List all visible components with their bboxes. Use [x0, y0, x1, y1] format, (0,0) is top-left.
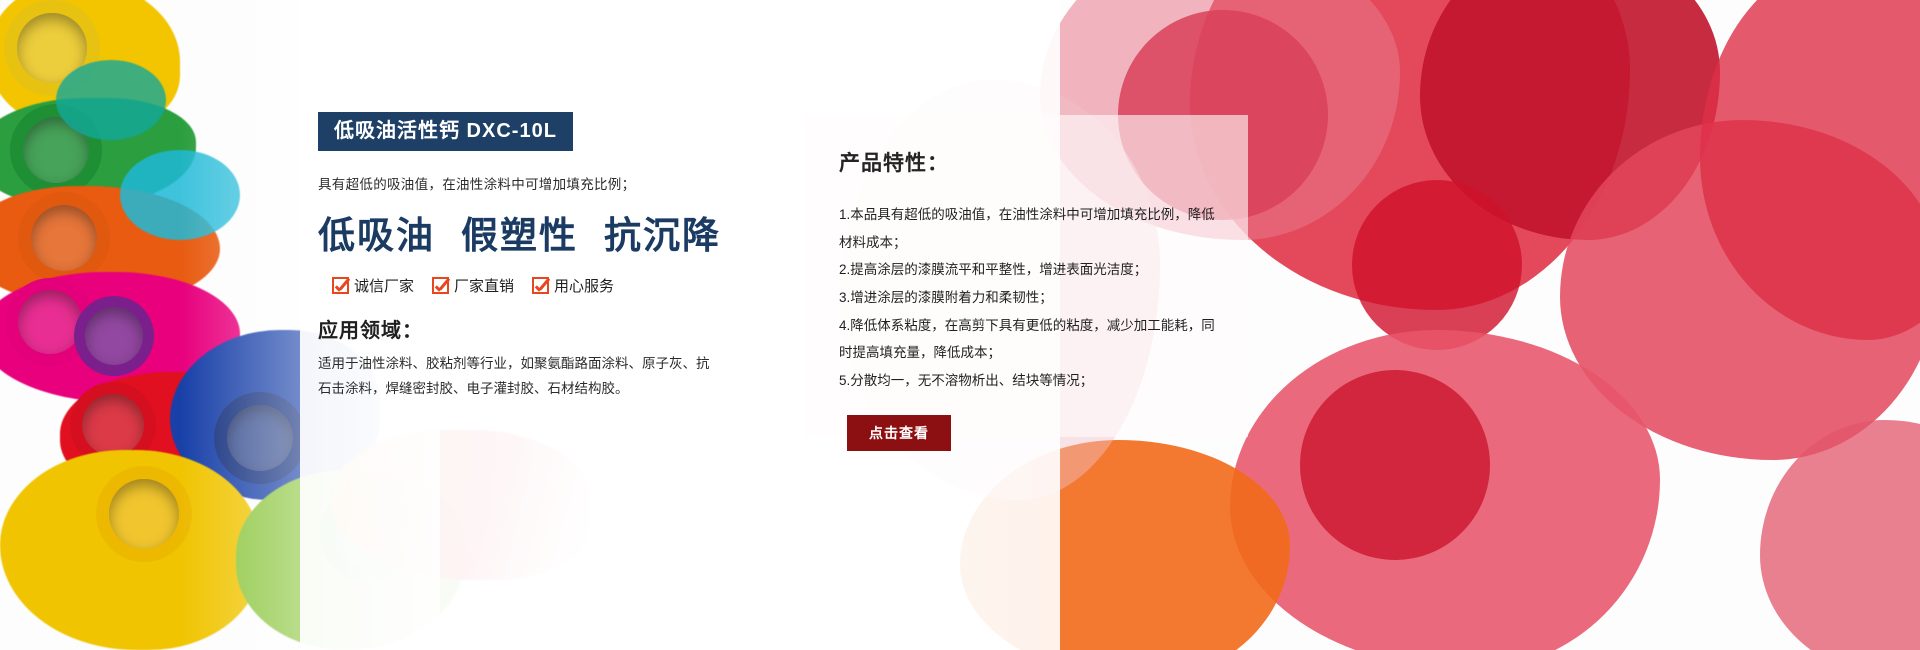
feature-label-2: 厂家直销: [454, 275, 514, 296]
red-splash-bowl-3: [1300, 370, 1490, 560]
left-content-column: 低吸油活性钙 DXC-10L 具有超低的吸油值，在油性涂料中可增加填充比例； 低…: [318, 112, 738, 402]
feature-check-row: 诚信厂家 厂家直销 用心服务: [318, 275, 738, 296]
product-features-panel: 产品特性： 1.本品具有超低的吸油值，在油性涂料中可增加填充比例，降低材料成本；…: [805, 115, 1248, 437]
panel-feature-item-2: 2.提高涂层的漆膜流平和平整性，增进表面光洁度；: [839, 256, 1217, 284]
headline-word-1: 低吸油: [318, 216, 435, 257]
paint-smear-teal: [56, 60, 166, 140]
paint-can-yellow-2: [96, 466, 192, 562]
feature-label-3: 用心服务: [554, 275, 614, 296]
application-body: 适用于油性涂料、胶粘剂等行业，如聚氨酯路面涂料、原子灰、抗石击涂料，焊缝密封胶、…: [318, 352, 718, 402]
headline-word-2: 假塑性: [461, 216, 578, 257]
feature-item-2: 厂家直销: [432, 275, 514, 296]
feature-item-3: 用心服务: [532, 275, 614, 296]
product-subtitle: 具有超低的吸油值，在油性涂料中可增加填充比例；: [318, 173, 738, 193]
panel-feature-item-4: 4.降低体系粘度，在高剪下具有更低的粘度，减少加工能耗，同时提高填充量，降低成本…: [839, 312, 1217, 367]
headline-word-3: 抗沉降: [604, 216, 721, 257]
application-heading: 应用领域：: [318, 314, 738, 343]
feature-item-1: 诚信厂家: [332, 275, 414, 296]
feature-label-1: 诚信厂家: [354, 275, 414, 296]
paint-can-purple: [74, 296, 154, 376]
check-icon: [332, 277, 349, 294]
check-icon: [532, 277, 549, 294]
headline: 低吸油假塑性抗沉降: [318, 205, 738, 259]
product-title-badge: 低吸油活性钙 DXC-10L: [318, 112, 573, 151]
paint-can-orange: [18, 192, 110, 284]
check-icon: [432, 277, 449, 294]
panel-feature-item-3: 3.增进涂层的漆膜附着力和柔韧性；: [839, 284, 1217, 312]
panel-feature-list: 1.本品具有超低的吸油值，在油性涂料中可增加填充比例，降低材料成本； 2.提高涂…: [839, 201, 1217, 395]
panel-inner: 产品特性： 1.本品具有超低的吸油值，在油性涂料中可增加填充比例，降低材料成本；…: [805, 115, 1248, 451]
promo-banner: 低吸油活性钙 DXC-10L 具有超低的吸油值，在油性涂料中可增加填充比例； 低…: [0, 0, 1920, 650]
view-details-button[interactable]: 点击查看: [847, 415, 951, 451]
panel-heading: 产品特性：: [839, 147, 1214, 177]
red-splash-bowl-2: [1352, 180, 1522, 350]
panel-feature-item-5: 5.分散均一，无不溶物析出、结块等情况；: [839, 367, 1217, 395]
panel-feature-item-1: 1.本品具有超低的吸油值，在油性涂料中可增加填充比例，降低材料成本；: [839, 201, 1217, 256]
